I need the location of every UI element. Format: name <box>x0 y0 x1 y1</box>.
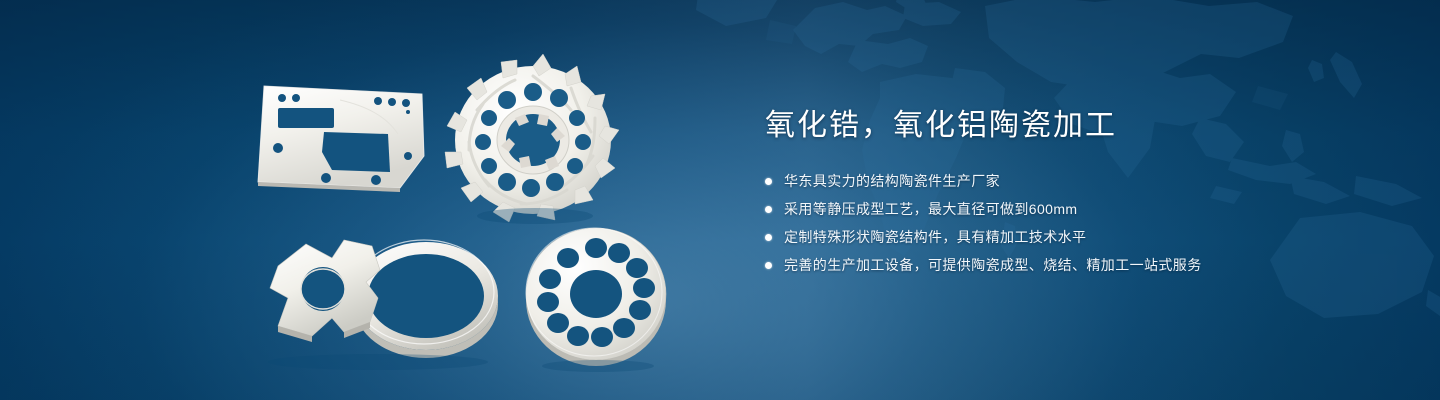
bullet-icon <box>765 262 772 269</box>
ceramic-products-group <box>0 0 740 400</box>
ceramic-plate-photo <box>248 78 438 198</box>
feature-text-2: 采用等静压成型工艺，最大直径可做到600mm <box>784 198 1077 220</box>
feature-text-1: 华东具实力的结构陶瓷件生产厂家 <box>784 170 1000 192</box>
feature-text-3: 定制特殊形状陶瓷结构件，具有精加工技术水平 <box>784 226 1086 248</box>
hero-banner: 氧化锆，氧化铝陶瓷加工 华东具实力的结构陶瓷件生产厂家 采用等静压成型工艺，最大… <box>0 0 1440 400</box>
banner-headline: 氧化锆，氧化铝陶瓷加工 <box>765 108 1385 144</box>
ceramic-perforated-disc-photo <box>518 222 678 372</box>
ceramic-cross-and-ring-photo <box>248 222 508 370</box>
feature-text-4: 完善的生产加工设备，可提供陶瓷成型、烧结、精加工一站式服务 <box>784 254 1202 276</box>
bullet-icon <box>765 178 772 185</box>
banner-text-block: 氧化锆，氧化铝陶瓷加工 华东具实力的结构陶瓷件生产厂家 采用等静压成型工艺，最大… <box>765 108 1385 282</box>
feature-item-3: 定制特殊形状陶瓷结构件，具有精加工技术水平 <box>765 226 1385 248</box>
feature-item-1: 华东具实力的结构陶瓷件生产厂家 <box>765 170 1385 192</box>
bullet-icon <box>765 234 772 241</box>
feature-item-4: 完善的生产加工设备，可提供陶瓷成型、烧结、精加工一站式服务 <box>765 254 1385 276</box>
ceramic-impeller-photo <box>443 48 623 228</box>
feature-list: 华东具实力的结构陶瓷件生产厂家 采用等静压成型工艺，最大直径可做到600mm 定… <box>765 170 1385 276</box>
bullet-icon <box>765 206 772 213</box>
feature-item-2: 采用等静压成型工艺，最大直径可做到600mm <box>765 198 1385 220</box>
